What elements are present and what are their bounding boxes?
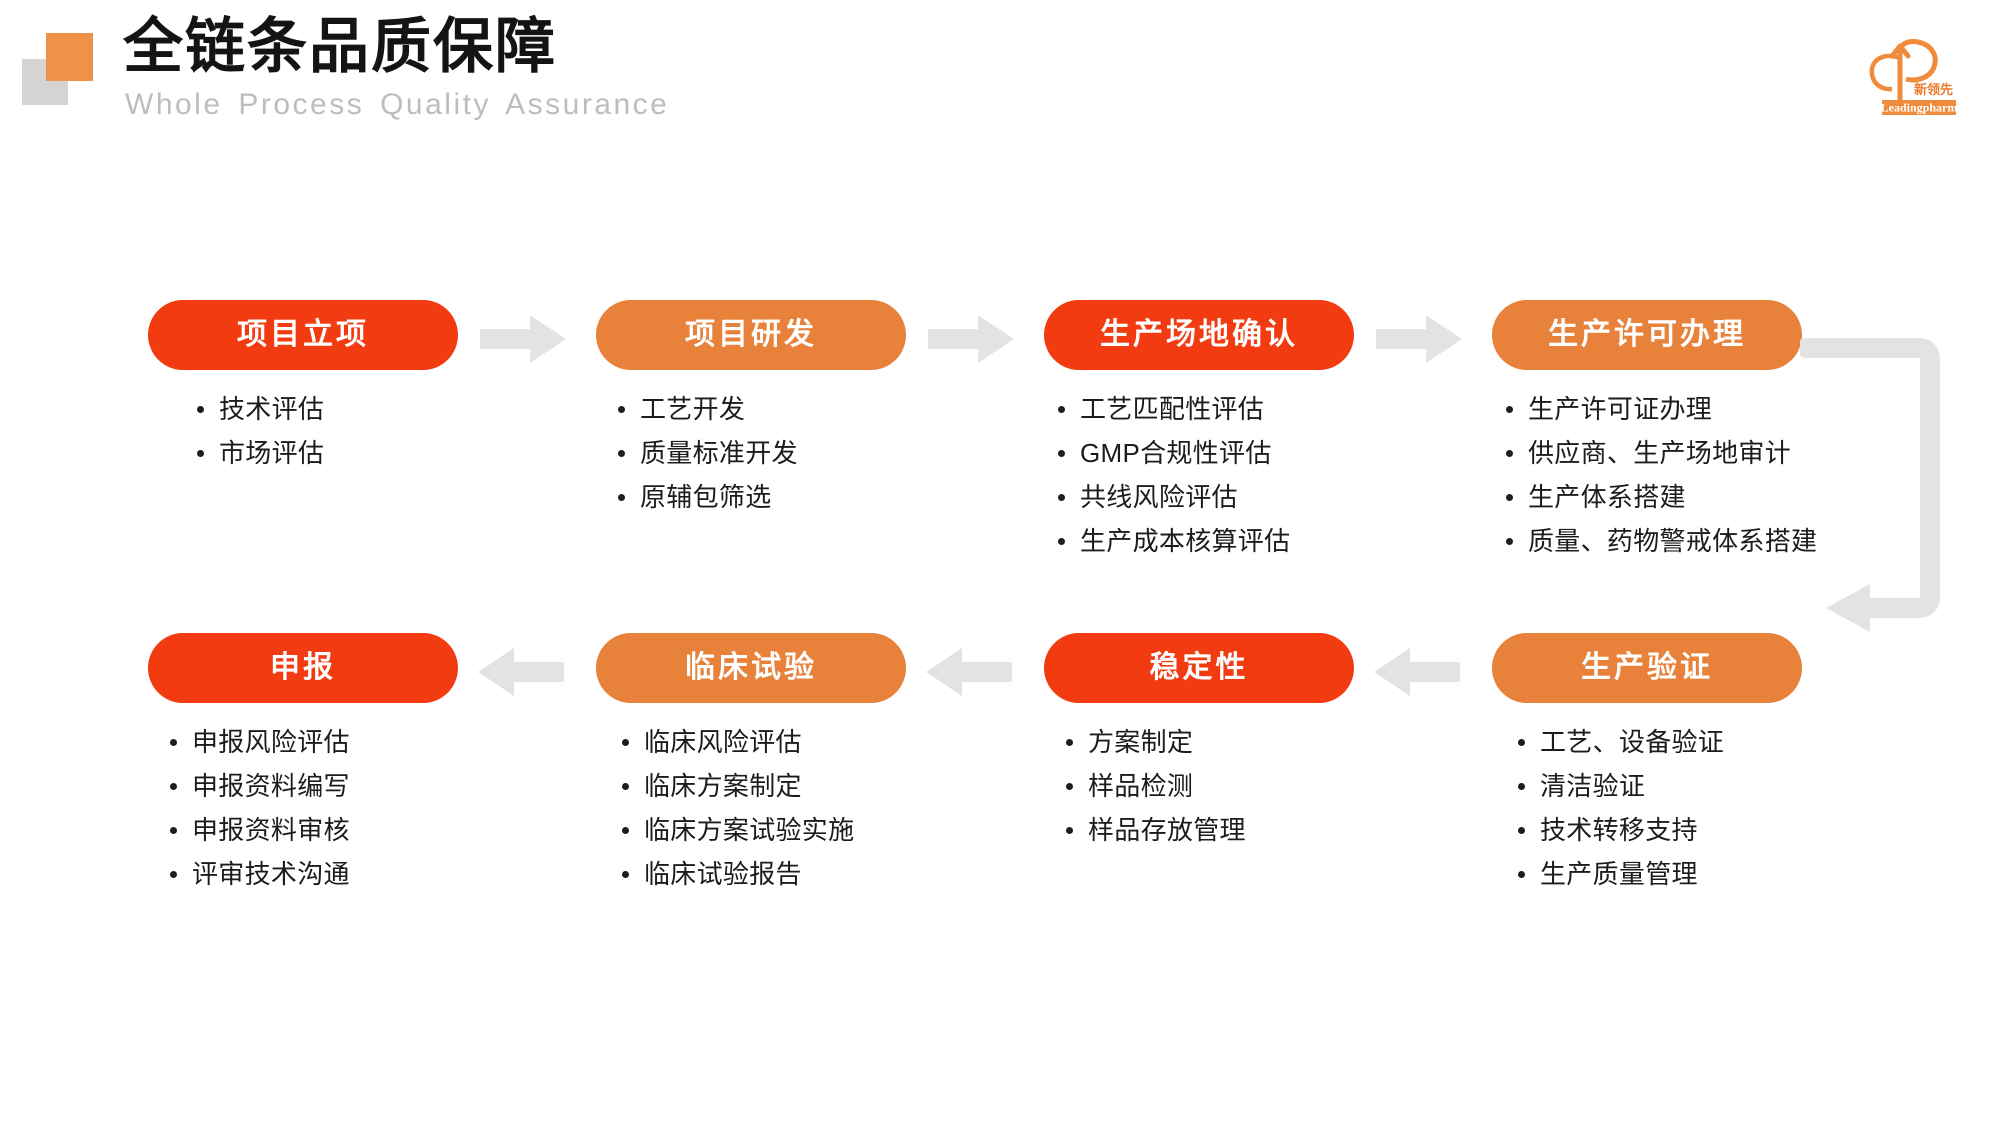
stage-2-pill[interactable]: 项目研发: [596, 300, 906, 370]
stage-8-pill[interactable]: 申报: [148, 633, 458, 703]
stage-5-label: 生产验证: [1581, 653, 1713, 683]
list-item: 原辅包筛选: [614, 475, 906, 519]
arrow-left-icon-1: [478, 646, 564, 698]
list-item: 样品检测: [1062, 764, 1354, 808]
stage-5-production-validation[interactable]: 生产验证 工艺、设备验证 清洁验证 技术转移支持 生产质量管理: [1492, 633, 1802, 912]
list-item: 工艺开发: [614, 387, 906, 431]
stage-3-pill[interactable]: 生产场地确认: [1044, 300, 1354, 370]
stage-7-label: 临床试验: [685, 653, 817, 683]
stage-1-pill[interactable]: 项目立项: [148, 300, 458, 370]
arrow-left-icon-3: [1374, 646, 1460, 698]
list-item: 技术转移支持: [1514, 808, 1802, 852]
stage-2-label: 项目研发: [685, 320, 817, 350]
list-item: 市场评估: [193, 431, 458, 475]
elbow-connector-arrow-icon: [1800, 326, 2000, 666]
list-item: 质量标准开发: [614, 431, 906, 475]
stage-1-project-initiation[interactable]: 项目立项 技术评估 市场评估: [148, 300, 458, 491]
stage-7-items: 临床风险评估 临床方案制定 临床方案试验实施 临床试验报告: [618, 720, 906, 896]
stage-2-project-rd[interactable]: 项目研发 工艺开发 质量标准开发 原辅包筛选: [596, 300, 906, 535]
list-item: 样品存放管理: [1062, 808, 1354, 852]
list-item: 申报资料审核: [166, 808, 458, 852]
stage-1-items: 技术评估 市场评估: [193, 387, 458, 475]
stage-6-items: 方案制定 样品检测 样品存放管理: [1062, 720, 1354, 852]
list-item: 生产体系搭建: [1502, 475, 1802, 519]
stage-5-pill[interactable]: 生产验证: [1492, 633, 1802, 703]
list-item: 共线风险评估: [1054, 475, 1354, 519]
list-item: 质量、药物警戒体系搭建: [1502, 519, 1802, 563]
list-item: 临床试验报告: [618, 852, 906, 896]
stage-3-items: 工艺匹配性评估 GMP合规性评估 共线风险评估 生产成本核算评估: [1054, 387, 1354, 563]
stage-7-pill[interactable]: 临床试验: [596, 633, 906, 703]
arrow-right-icon-3: [1376, 313, 1462, 365]
arrow-left-icon-2: [926, 646, 1012, 698]
list-item: 临床方案制定: [618, 764, 906, 808]
arrow-right-icon-1: [480, 313, 566, 365]
stage-1-label: 项目立项: [237, 320, 369, 350]
stage-4-label: 生产许可办理: [1548, 320, 1746, 350]
stage-7-clinical-trial[interactable]: 临床试验 临床风险评估 临床方案制定 临床方案试验实施 临床试验报告: [596, 633, 906, 912]
stage-6-label: 稳定性: [1150, 653, 1249, 683]
list-item: 清洁验证: [1514, 764, 1802, 808]
stage-3-label: 生产场地确认: [1100, 320, 1298, 350]
list-item: 临床方案试验实施: [618, 808, 906, 852]
list-item: 生产许可证办理: [1502, 387, 1802, 431]
process-flow-diagram: 项目立项 技术评估 市场评估 项目研发 工艺开发 质量标准开发 原辅包筛选 生产…: [0, 0, 2000, 1125]
list-item: GMP合规性评估: [1054, 431, 1354, 475]
stage-3-site-confirmation[interactable]: 生产场地确认 工艺匹配性评估 GMP合规性评估 共线风险评估 生产成本核算评估: [1044, 300, 1354, 579]
stage-6-stability[interactable]: 稳定性 方案制定 样品检测 样品存放管理: [1044, 633, 1354, 868]
stage-2-items: 工艺开发 质量标准开发 原辅包筛选: [614, 387, 906, 519]
stage-6-pill[interactable]: 稳定性: [1044, 633, 1354, 703]
list-item: 供应商、生产场地审计: [1502, 431, 1802, 475]
list-item: 评审技术沟通: [166, 852, 458, 896]
list-item: 工艺匹配性评估: [1054, 387, 1354, 431]
stage-8-items: 申报风险评估 申报资料编写 申报资料审核 评审技术沟通: [166, 720, 458, 896]
list-item: 申报资料编写: [166, 764, 458, 808]
list-item: 技术评估: [193, 387, 458, 431]
stage-4-items: 生产许可证办理 供应商、生产场地审计 生产体系搭建 质量、药物警戒体系搭建: [1502, 387, 1802, 563]
stage-5-items: 工艺、设备验证 清洁验证 技术转移支持 生产质量管理: [1514, 720, 1802, 896]
list-item: 方案制定: [1062, 720, 1354, 764]
stage-8-label: 申报: [270, 653, 336, 683]
list-item: 申报风险评估: [166, 720, 458, 764]
arrow-right-icon-2: [928, 313, 1014, 365]
list-item: 工艺、设备验证: [1514, 720, 1802, 764]
stage-8-declaration[interactable]: 申报 申报风险评估 申报资料编写 申报资料审核 评审技术沟通: [148, 633, 458, 912]
list-item: 临床风险评估: [618, 720, 906, 764]
stage-4-pill[interactable]: 生产许可办理: [1492, 300, 1802, 370]
list-item: 生产成本核算评估: [1054, 519, 1354, 563]
list-item: 生产质量管理: [1514, 852, 1802, 896]
stage-4-production-license[interactable]: 生产许可办理 生产许可证办理 供应商、生产场地审计 生产体系搭建 质量、药物警戒…: [1492, 300, 1802, 579]
